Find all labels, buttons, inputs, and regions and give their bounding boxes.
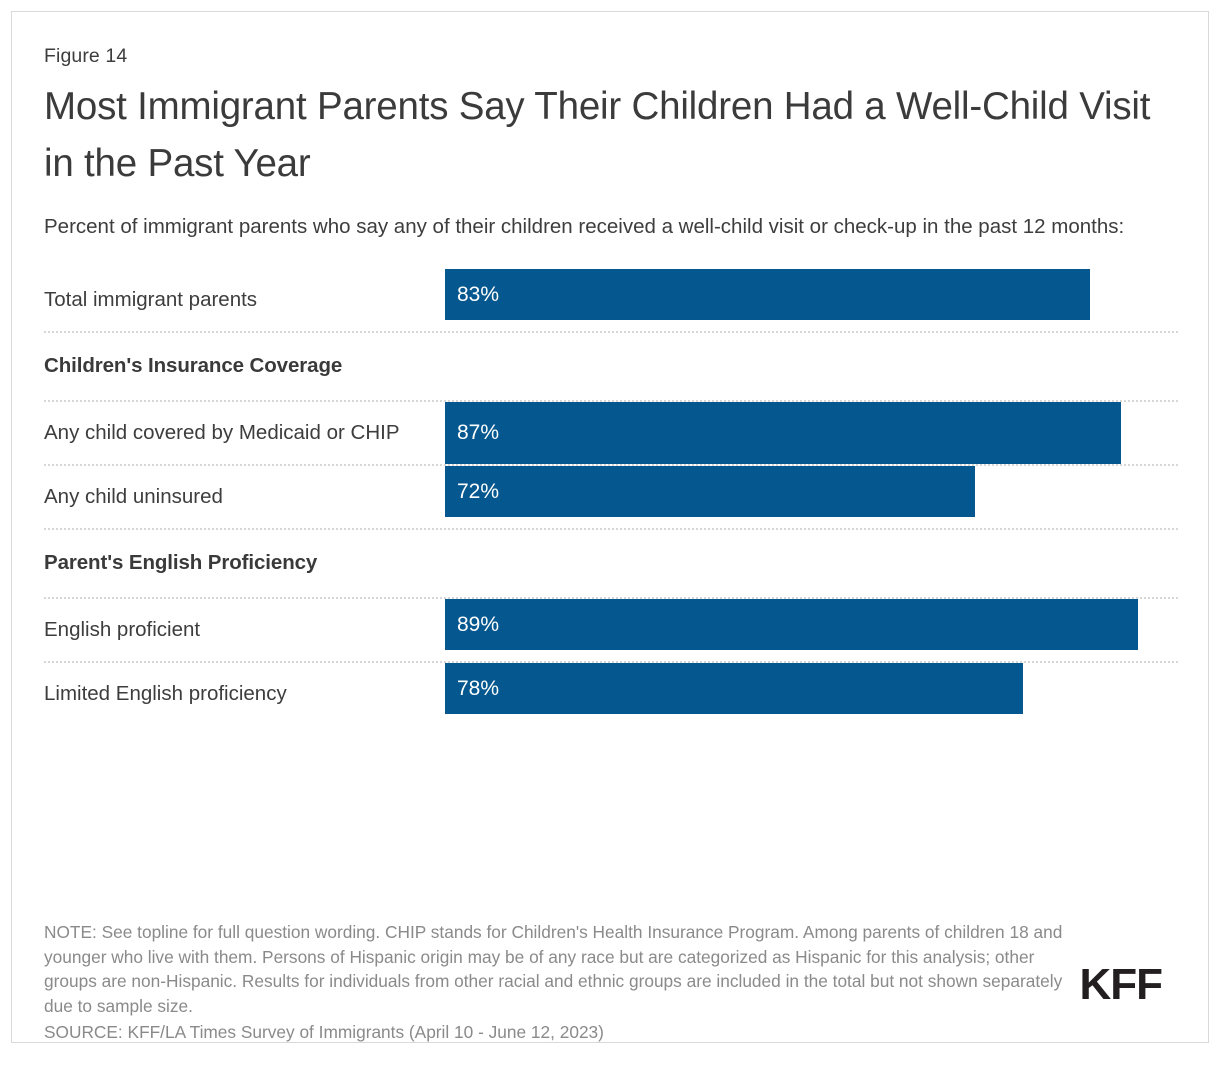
figure-number: Figure 14	[44, 45, 1176, 68]
table-row: Any child covered by Medicaid or CHIP 87…	[44, 402, 1178, 464]
figure-container: Figure 14 Most Immigrant Parents Say The…	[11, 11, 1209, 1043]
figure-inner: Figure 14 Most Immigrant Parents Say The…	[12, 45, 1208, 1075]
bar-track: 72%	[445, 466, 1178, 517]
bar-label: Total immigrant parents	[44, 285, 445, 315]
figure-subtitle: Percent of immigrant parents who say any…	[44, 211, 1134, 242]
section-heading-insurance: Children's Insurance Coverage	[44, 333, 1178, 400]
kff-logo: KFF	[1079, 963, 1162, 1007]
table-row: Any child uninsured 72%	[44, 466, 1178, 528]
bar-87: 87%	[445, 402, 1121, 464]
bar-83: 83%	[445, 269, 1090, 320]
note-text: NOTE: See topline for full question word…	[44, 920, 1089, 1018]
figure-footer: NOTE: See topline for full question word…	[44, 920, 1176, 1045]
bar-78: 78%	[445, 663, 1023, 714]
bar-value-label: 78%	[457, 677, 499, 701]
page-title: Most Immigrant Parents Say Their Childre…	[44, 79, 1176, 192]
table-row: Total immigrant parents 83%	[44, 269, 1178, 331]
row-divider	[44, 528, 1178, 530]
bar-label: English proficient	[44, 615, 445, 645]
bar-value-label: 83%	[457, 283, 499, 307]
bar-label: Any child covered by Medicaid or CHIP	[44, 418, 445, 448]
table-row: English proficient 89%	[44, 599, 1178, 661]
bar-value-label: 87%	[457, 421, 499, 445]
bar-72: 72%	[445, 466, 975, 517]
bar-chart: Total immigrant parents 83% Children's I…	[44, 269, 1178, 725]
bar-label: Limited English proficiency	[44, 679, 445, 709]
bar-track: 78%	[445, 663, 1178, 714]
bar-value-label: 72%	[457, 480, 499, 504]
bar-label: Any child uninsured	[44, 482, 445, 512]
section-heading-english: Parent's English Proficiency	[44, 530, 1178, 597]
bar-track: 87%	[445, 402, 1178, 464]
source-text: SOURCE: KFF/LA Times Survey of Immigrant…	[44, 1020, 1176, 1045]
bar-track: 83%	[445, 269, 1178, 320]
row-divider	[44, 331, 1178, 333]
bar-track: 89%	[445, 599, 1178, 650]
bar-89: 89%	[445, 599, 1138, 650]
table-row: Limited English proficiency 78%	[44, 663, 1178, 725]
bar-value-label: 89%	[457, 613, 499, 637]
